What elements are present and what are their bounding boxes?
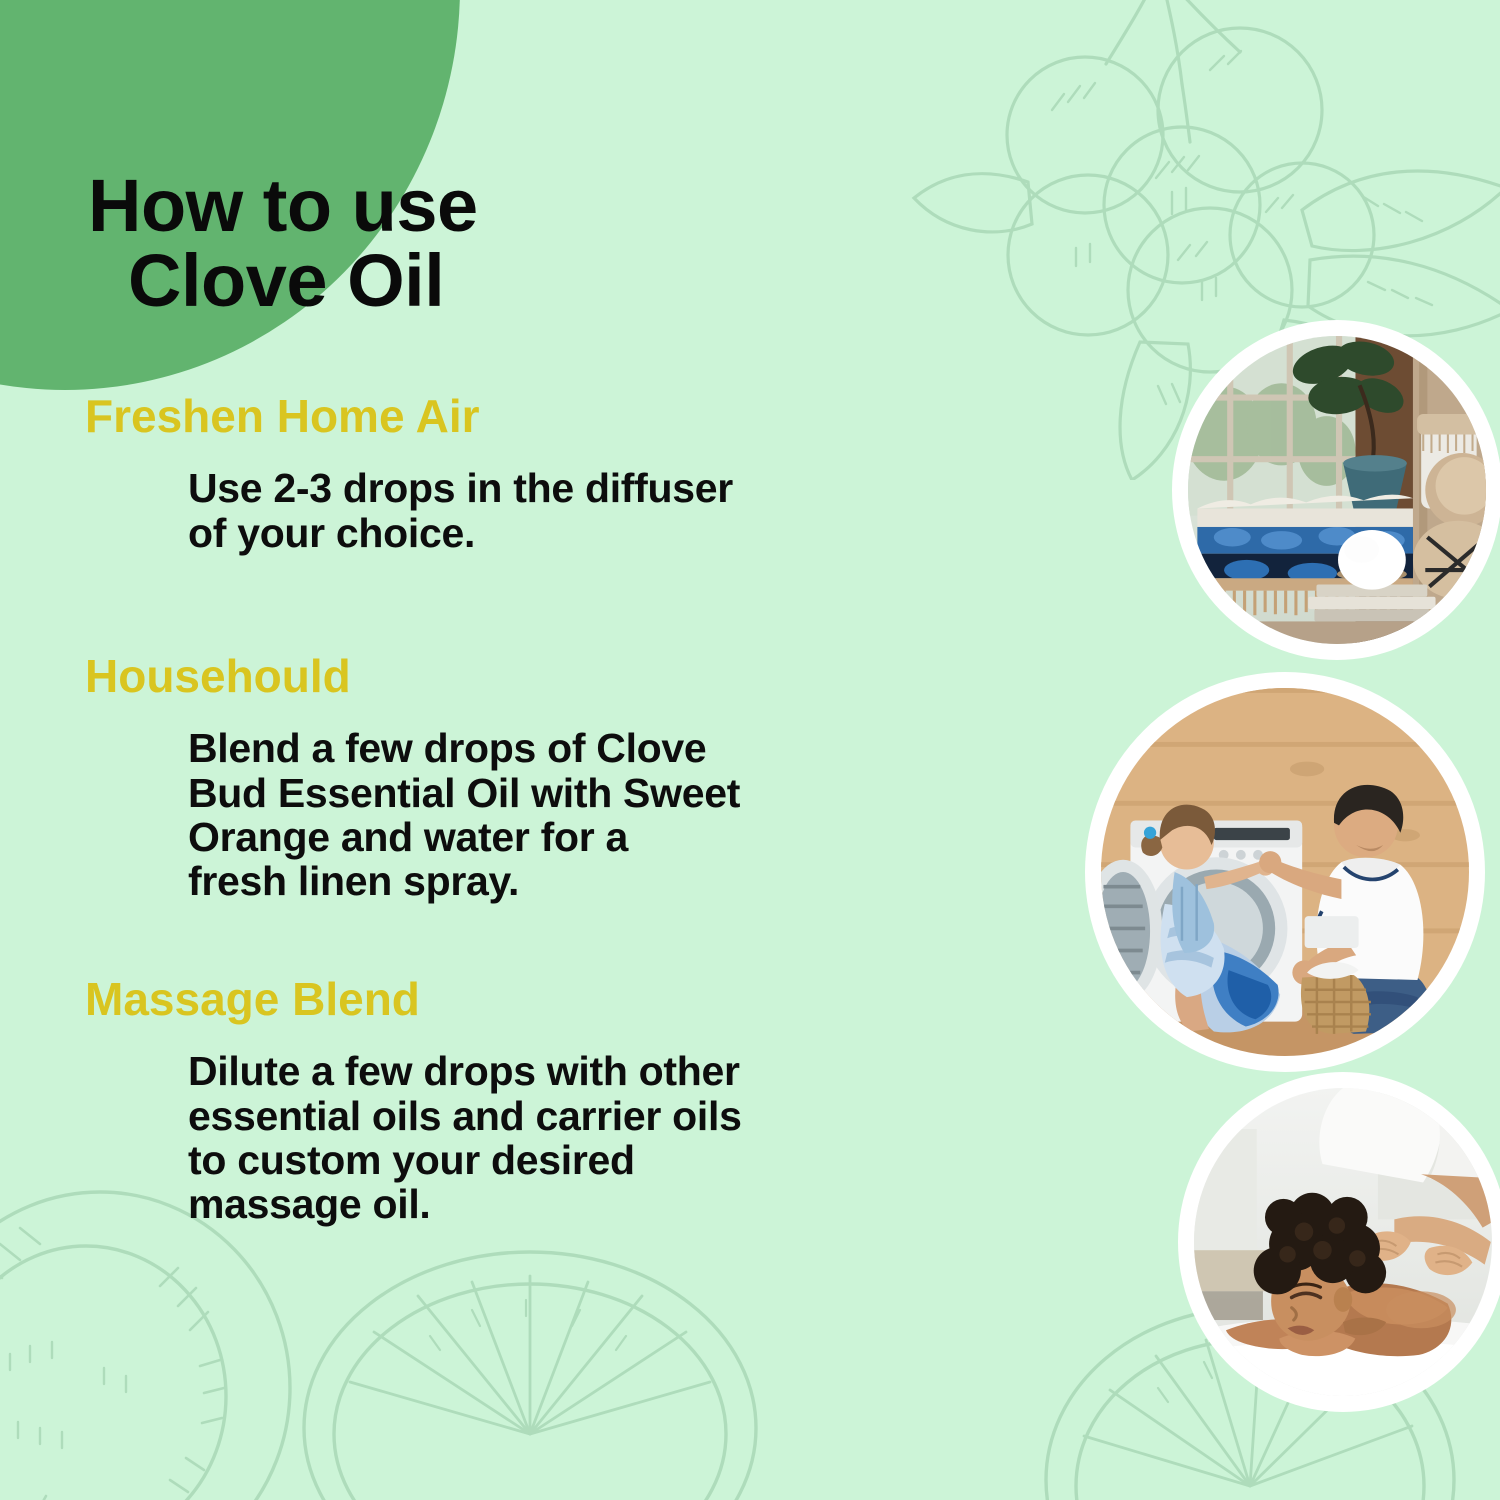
- photo-clip: [1194, 1088, 1492, 1396]
- diffuser-living-room-image: [1188, 336, 1486, 644]
- section-freshen-home-air: Freshen Home Air Use 2-3 drops in the di…: [85, 392, 965, 555]
- infographic-canvas: How to use Clove Oil Freshen Home Air Us…: [0, 0, 1500, 1500]
- page-title: How to use Clove Oil: [88, 168, 478, 319]
- section-heading: Massage Blend: [85, 975, 965, 1023]
- section-body: Dilute a few drops with other essential …: [188, 1049, 965, 1226]
- photo-circle-diffuser: [1172, 320, 1500, 660]
- section-household: Househould Blend a few drops of Clove Bu…: [85, 652, 965, 903]
- section-heading: Househould: [85, 652, 965, 700]
- photo-circle-laundry: [1085, 672, 1485, 1072]
- section-heading: Freshen Home Air: [85, 392, 965, 440]
- section-massage-blend: Massage Blend Dilute a few drops with ot…: [85, 975, 965, 1226]
- page-title-line-1: How to use: [88, 168, 478, 243]
- photo-clip: [1101, 688, 1469, 1056]
- section-body: Blend a few drops of Clove Bud Essential…: [188, 726, 965, 903]
- page-title-line-2: Clove Oil: [128, 243, 478, 318]
- citrus-slice-watermark-middle-icon: [290, 1190, 770, 1500]
- father-daughter-laundry-image: [1101, 688, 1469, 1056]
- photo-clip: [1188, 336, 1486, 644]
- section-body: Use 2-3 drops in the diffuser of your ch…: [188, 466, 965, 555]
- photo-circle-massage: [1178, 1072, 1500, 1412]
- massage-therapy-image: [1194, 1088, 1492, 1396]
